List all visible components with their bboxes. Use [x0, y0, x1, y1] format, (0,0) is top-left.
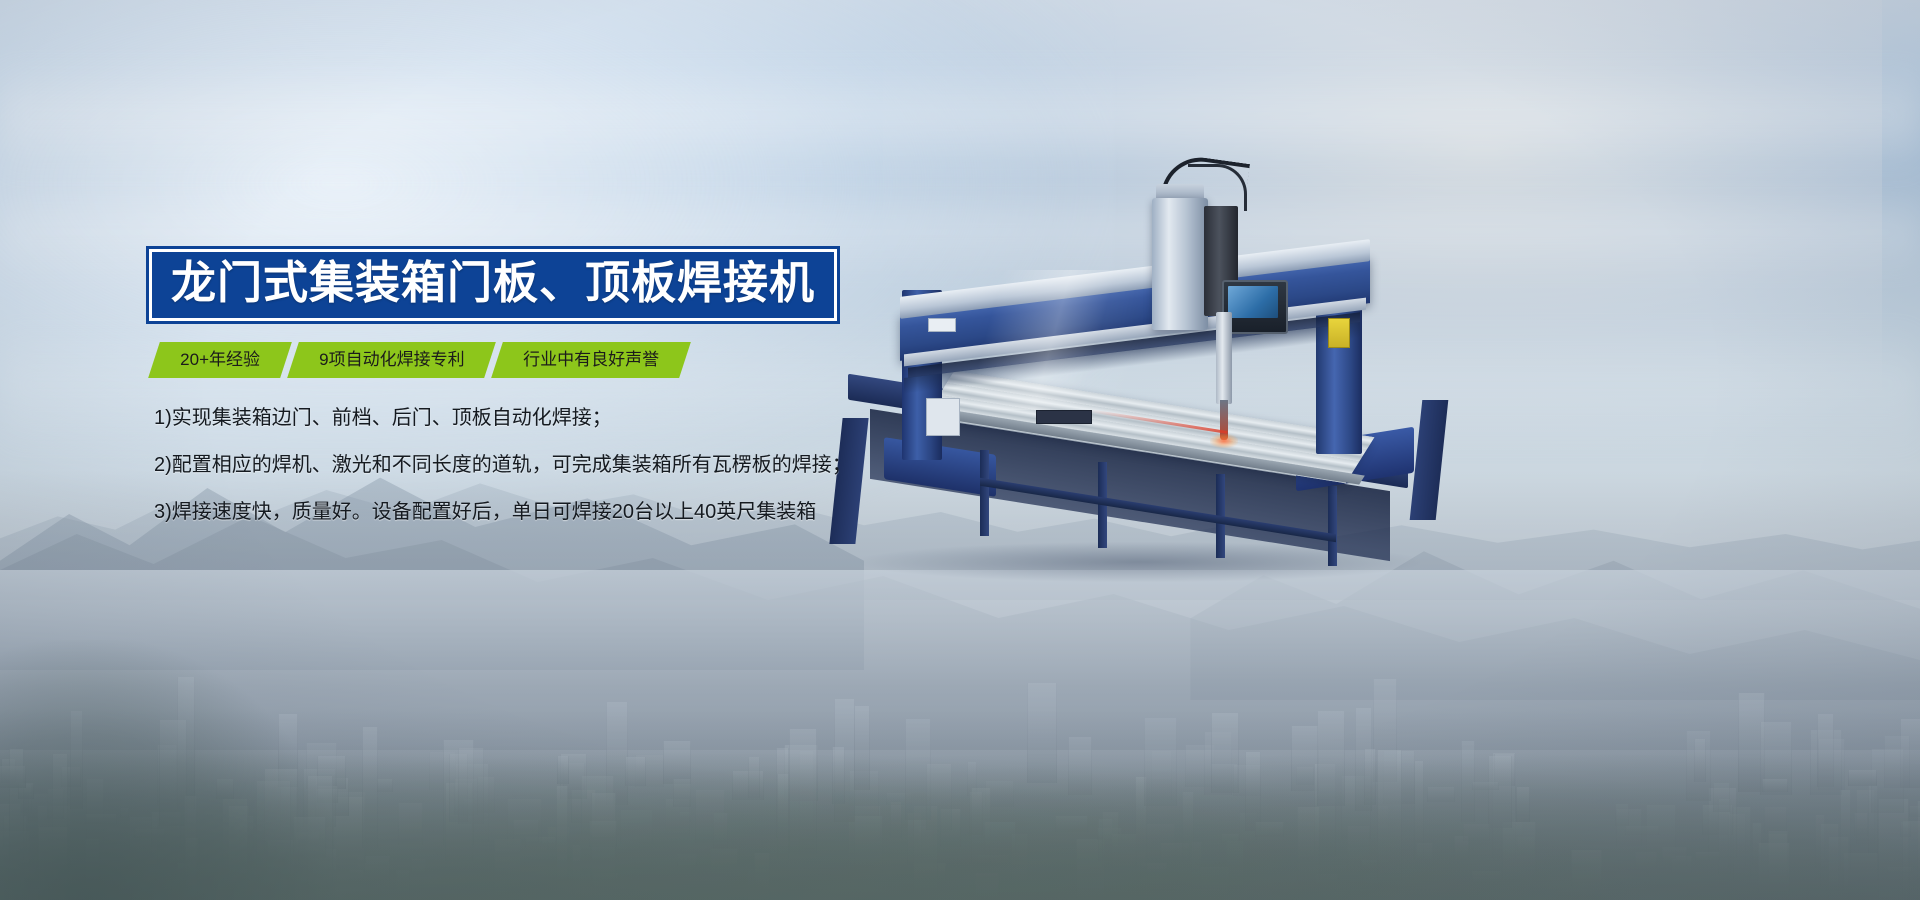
- weld-spark-glow: [1210, 434, 1238, 448]
- hero-banner: 龙门式集装箱门板、顶板焊接机 20+年经验 9项自动化焊接专利 行业中有良好声誉…: [0, 0, 1920, 900]
- bullet-item-2: 2)配置相应的焊机、激光和不同长度的道轨，可完成集装箱所有瓦楞板的焊接；: [154, 455, 926, 475]
- badge-reputation: 行业中有良好声誉: [491, 342, 691, 378]
- banner-content: 龙门式集装箱门板、顶板焊接机 20+年经验 9项自动化焊接专利 行业中有良好声誉…: [146, 246, 926, 522]
- badge-experience: 20+年经验: [148, 342, 292, 378]
- warning-label-icon: [1328, 318, 1350, 348]
- machine-sticker-left: [928, 318, 956, 332]
- page-title: 龙门式集装箱门板、顶板焊接机: [171, 258, 815, 308]
- title-box-inner: 龙门式集装箱门板、顶板焊接机: [149, 249, 837, 321]
- feature-badges: 20+年经验 9项自动化焊接专利 行业中有良好声誉: [154, 342, 926, 378]
- feature-bullets: 1)实现集装箱边门、前档、后门、顶板自动化焊接； 2)配置相应的焊机、激光和不同…: [154, 408, 926, 522]
- badge-patents: 9项自动化焊接专利: [287, 342, 496, 378]
- welding-carriage: [1152, 198, 1208, 330]
- hmi-screen: [1228, 286, 1278, 318]
- bullet-item-3: 3)焊接速度快，质量好。设备配置好后，单日可焊接20台以上40英尺集装箱: [154, 502, 926, 522]
- vertical-slide-axis: [1216, 312, 1232, 404]
- product-photo-gantry-welder: [830, 150, 1470, 670]
- machine-control-box-left: [926, 398, 960, 436]
- table-leg-4: [1328, 486, 1337, 566]
- bullet-item-1: 1)实现集装箱边门、前档、后门、顶板自动化焊接；: [154, 408, 926, 428]
- machine-sticker-beam: [1036, 410, 1092, 424]
- machine-base-right-rail: [1410, 400, 1449, 520]
- foreground-hill-left: [0, 640, 340, 900]
- badge-reputation-label: 行业中有良好声誉: [523, 351, 659, 368]
- table-leg-1: [980, 450, 989, 536]
- badge-patents-label: 9项自动化焊接专利: [319, 351, 464, 368]
- title-box: 龙门式集装箱门板、顶板焊接机: [146, 246, 840, 324]
- badge-experience-label: 20+年经验: [180, 351, 260, 368]
